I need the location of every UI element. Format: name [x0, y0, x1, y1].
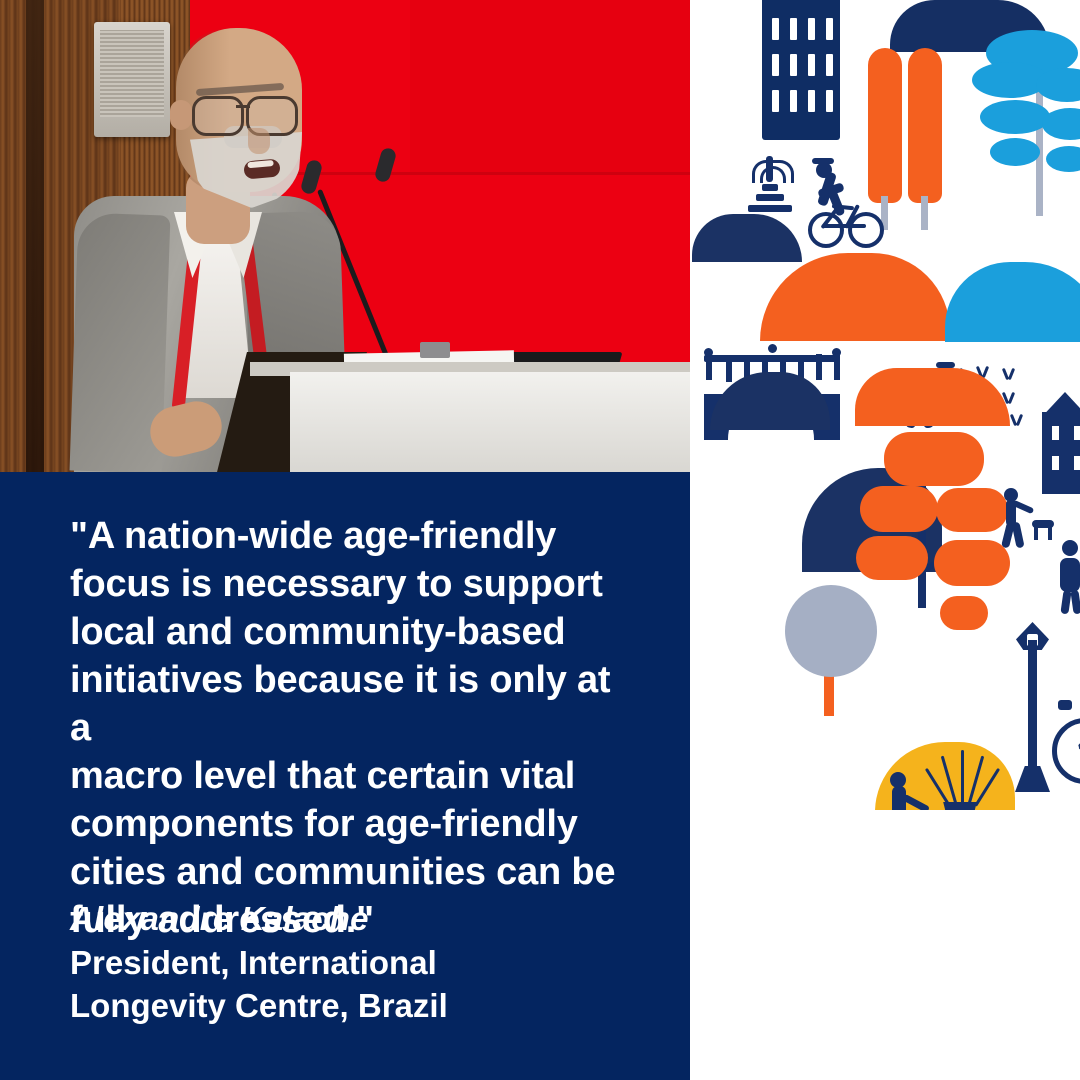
photo-speaker-glasses-bridge — [236, 105, 250, 108]
photo-podium-front — [290, 372, 690, 472]
orange-hill-icon — [760, 253, 950, 341]
photo-red-panel — [410, 0, 690, 172]
photo-speaker-ear — [170, 100, 192, 130]
apartment-building-icon — [762, 0, 840, 140]
photo-speaker-nose — [248, 128, 270, 154]
photo-wood-gap — [26, 0, 44, 472]
quote-attribution: Alexandre Kalache President, Internation… — [70, 897, 650, 1027]
photo-speaker-glasses-left — [192, 96, 244, 136]
orange-poplar-tree-right — [908, 48, 942, 203]
photo-podium-clip — [420, 342, 450, 358]
bicycle-seat-icon — [1058, 700, 1072, 710]
speaker-photo — [0, 0, 690, 472]
orange-poplar-trunk-right — [921, 196, 928, 230]
left-column: "A nation-wide age-friendly focus is nec… — [0, 0, 690, 1080]
quote-card: "A nation-wide age-friendly focus is nec… — [0, 0, 1080, 1080]
author-name: Alexandre Kalache — [70, 897, 650, 941]
bicycle-icon — [1052, 718, 1080, 784]
orange-poplar-tree-left — [868, 48, 902, 203]
photo-loudspeaker — [94, 22, 170, 137]
author-role: President, International Longevity Centr… — [70, 941, 650, 1027]
grey-lollipop-tree-icon — [785, 585, 877, 677]
navy-bush-icon — [692, 214, 802, 262]
quote-text: "A nation-wide age-friendly focus is nec… — [70, 512, 630, 944]
right-column: BR CENTRO INTERNACIONAL DE LONGEVIDADE B… — [690, 0, 1080, 1080]
quote-panel: "A nation-wide age-friendly focus is nec… — [0, 472, 690, 1080]
age-friendly-illustration — [690, 0, 1080, 810]
orange-hill-2-icon — [855, 368, 1010, 426]
blue-hill-icon — [945, 262, 1080, 342]
